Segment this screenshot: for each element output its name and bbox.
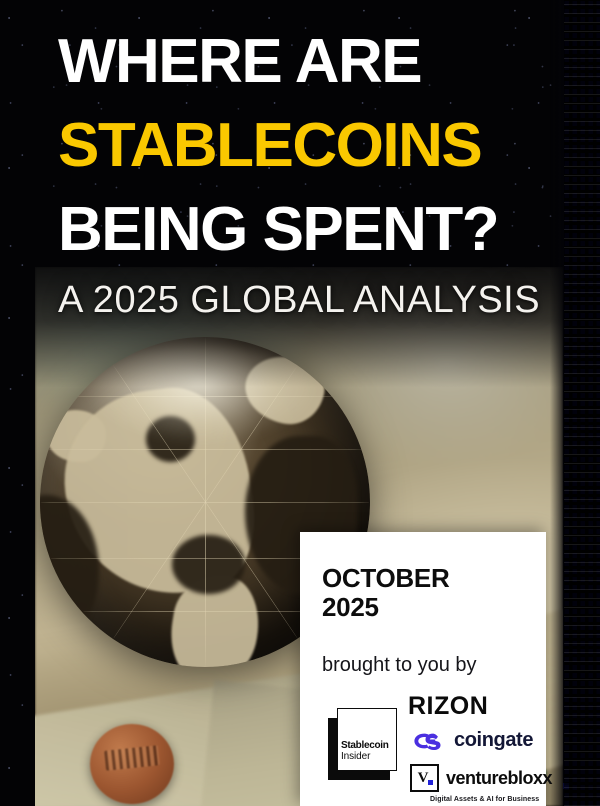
page-title: WHERE ARE STABLECOINS BEING SPENT? — [58, 20, 558, 272]
publication-year: 2025 — [322, 593, 449, 622]
coingate-logo[interactable]: coingate — [412, 729, 533, 752]
venturebloxx-wordmark: venturebloxx — [446, 768, 552, 789]
digital-data-strip — [564, 0, 600, 806]
venturebloxx-logo[interactable]: V venturebloxx Digital Assets & AI for B… — [410, 764, 569, 803]
coingate-mark-icon — [412, 731, 442, 751]
gulf-of-mexico — [172, 535, 245, 594]
byline-label: brought to you by — [322, 654, 477, 677]
data-strip-fade — [550, 0, 564, 806]
venturebloxx-tagline: Digital Assets & AI for Business — [430, 796, 569, 803]
parallel-line-2 — [47, 449, 364, 450]
venturebloxx-badge-letter: V — [418, 771, 429, 786]
publication-month: OCTOBER — [322, 564, 449, 593]
parallel-line-3 — [40, 502, 370, 503]
sponsor-card: OCTOBER 2025 brought to you by Stablecoi… — [300, 532, 546, 806]
poster-canvas: WHERE ARE STABLECOINS BEING SPENT? 51555 — [0, 0, 600, 806]
rizon-logo[interactable]: RIZON — [408, 692, 488, 721]
title-line-3: BEING SPENT? — [58, 188, 558, 272]
title-line-1: WHERE ARE — [58, 20, 558, 104]
stablecoin-insider-logo[interactable]: Stablecoin Insider — [328, 708, 402, 786]
venturebloxx-badge-icon: V — [410, 764, 439, 792]
page-subtitle: A 2025 GLOBAL ANALYSIS — [58, 279, 540, 322]
venturebloxx-lockup: V venturebloxx — [410, 764, 569, 792]
venturebloxx-badge-dot — [428, 780, 433, 785]
title-line-2: STABLECOINS — [58, 104, 558, 188]
publication-date: OCTOBER 2025 — [322, 564, 449, 622]
parallel-line-5 — [83, 611, 327, 612]
coingate-wordmark: coingate — [454, 729, 533, 752]
publisher-line-2: Insider — [341, 751, 389, 762]
publisher-name: Stablecoin Insider — [341, 740, 389, 762]
publisher-line-1: Stablecoin — [341, 740, 389, 751]
